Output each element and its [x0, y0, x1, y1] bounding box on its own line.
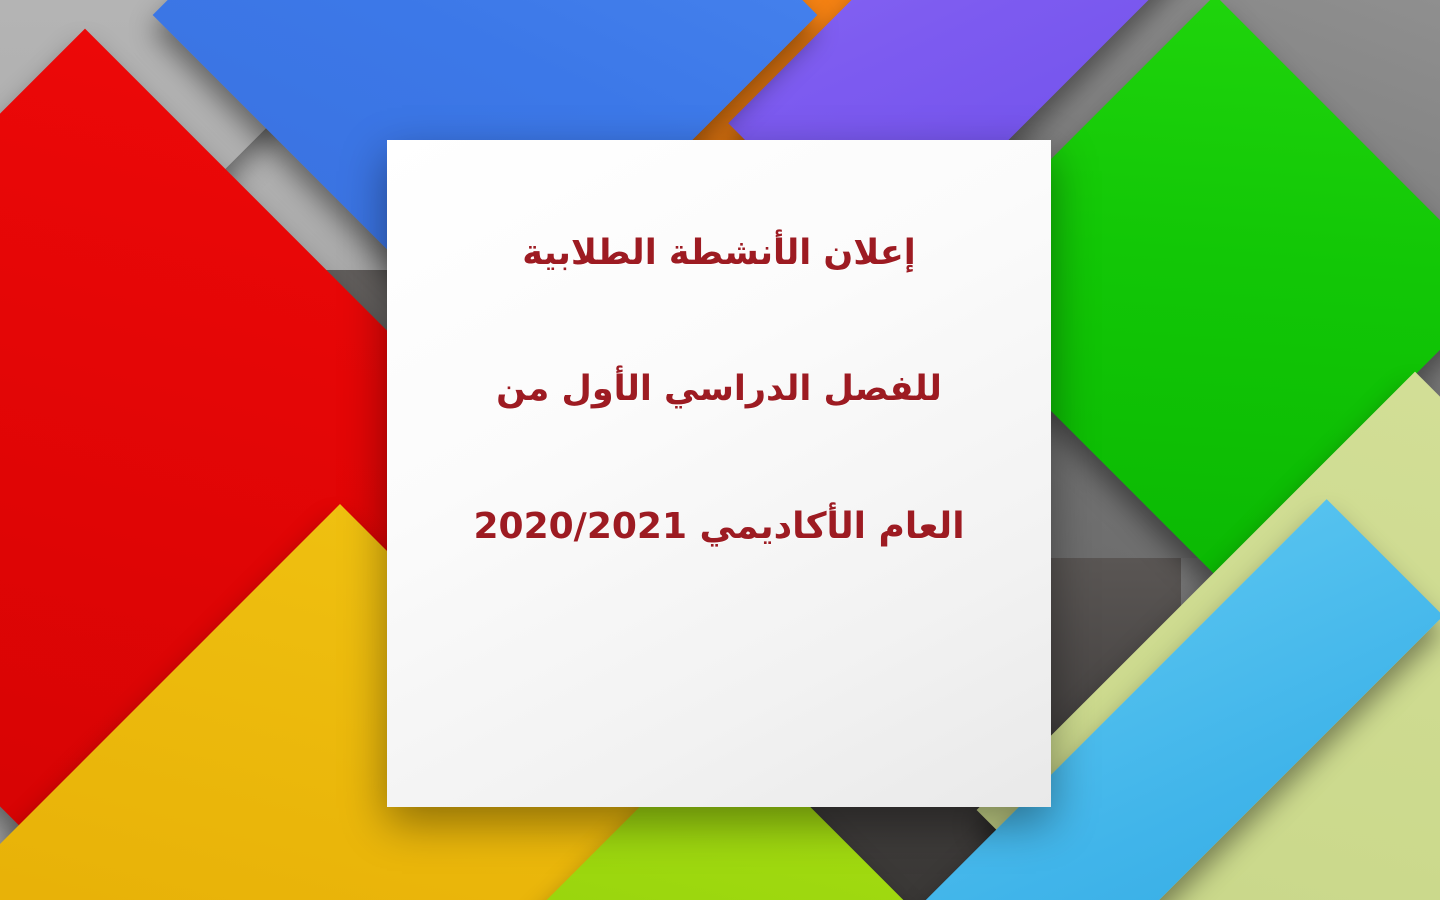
announcement-title: إعلان الأنشطة الطلابية [522, 232, 916, 276]
content-card: إعلان الأنشطة الطلابية للفصل الدراسي الأ… [387, 140, 1051, 807]
announcement-slide: إعلان الأنشطة الطلابية للفصل الدراسي الأ… [0, 0, 1440, 900]
announcement-semester-line: للفصل الدراسي الأول من [496, 368, 942, 412]
announcement-academic-year-line: العام الأكاديمي 2020/2021 [473, 504, 964, 549]
